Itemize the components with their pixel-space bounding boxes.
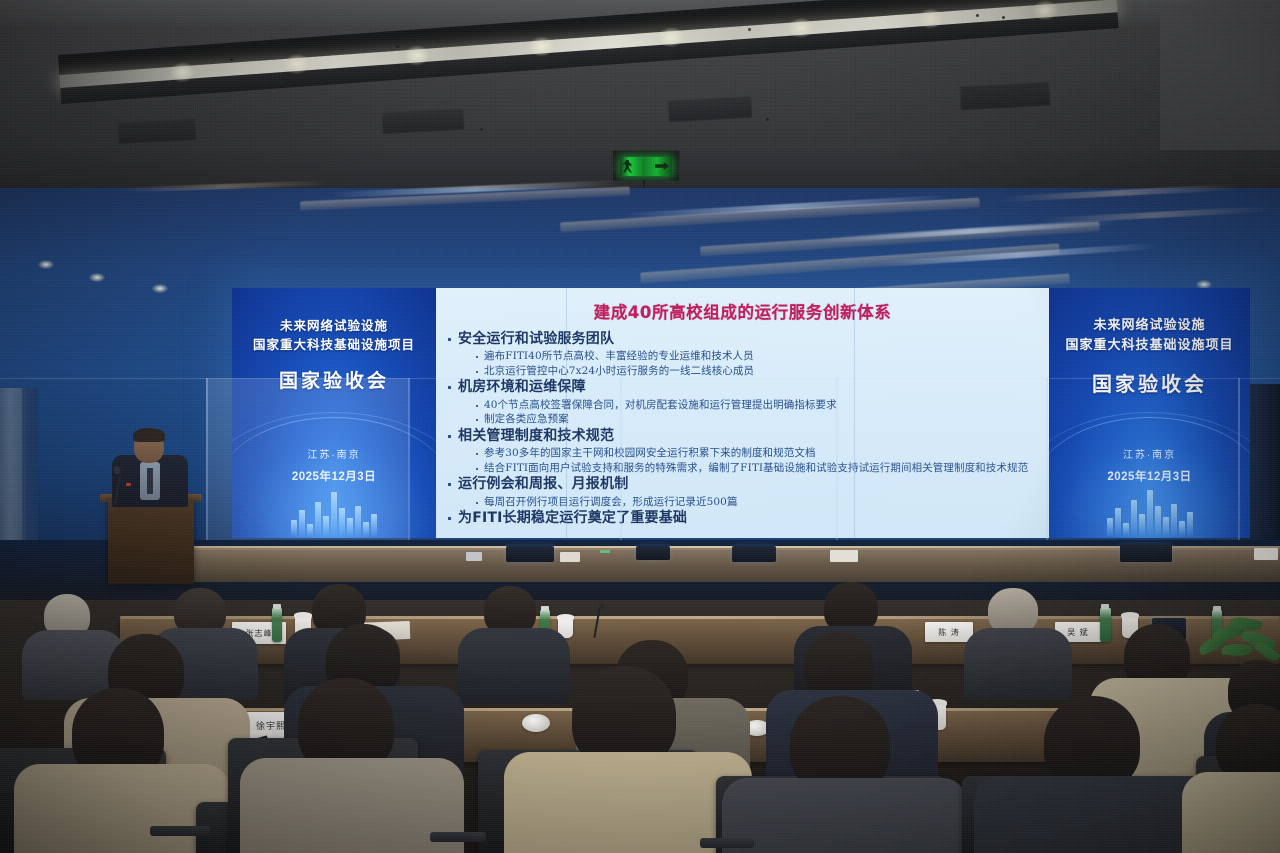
ceiling-downlight-reflection <box>89 273 105 282</box>
conference-room-photo: 未来网络试验设施 国家重大科技基础设施项目 国家验收会 江苏·南京 2025年1… <box>0 0 1280 853</box>
panel-date: 2025年12月3日 <box>1049 468 1250 484</box>
sub-bullet-dot-icon <box>476 502 478 504</box>
screen-content-slide: 建成40所高校组成的运行服务创新体系 安全运行和试验服务团队遍布FITI40所节… <box>436 288 1049 538</box>
water-bottle <box>272 608 282 642</box>
slide-sub-bullet: 每周召开例行项目运行调度会，形成运行记录近500篇 <box>476 495 1039 509</box>
sub-bullet-dot-icon <box>476 419 478 421</box>
slide-sub-bullet-text: 参考30多年的国家主干网和校园网安全运行积累下来的制度和规范文档 <box>484 446 816 460</box>
panel-heading: 国家验收会 <box>1049 368 1250 397</box>
speaker-hair <box>133 428 165 442</box>
front-desk-monitor <box>732 546 776 562</box>
front-desk-paper <box>830 550 858 562</box>
ceiling-vent <box>117 118 196 144</box>
slide-bullet: 安全运行和试验服务团队 <box>448 330 1039 348</box>
ceiling <box>0 0 1280 196</box>
bullet-dot-icon <box>448 483 451 486</box>
slide-bullet-text: 运行例会和周报、月报机制 <box>458 475 628 493</box>
slide-sub-bullet: 结合FITI面向用户试验支持和服务的特殊需求，编制了FITI基础设施和试验支持试… <box>476 461 1039 475</box>
podium <box>108 498 194 584</box>
sub-bullet-dot-icon <box>476 405 478 407</box>
front-desk <box>180 548 1280 582</box>
chair-armrest <box>150 826 210 836</box>
ceiling-vent <box>381 108 464 134</box>
presentation-screen: 未来网络试验设施 国家重大科技基础设施项目 国家验收会 江苏·南京 2025年1… <box>232 288 1250 538</box>
panel-line2: 国家重大科技基础设施项目 <box>1049 336 1250 356</box>
speaker-tie <box>147 468 153 494</box>
exit-sign-wire <box>613 150 614 151</box>
front-desk-paper <box>560 552 580 562</box>
chair-armrest <box>430 832 486 842</box>
screen-right-title-panel: 未来网络试验设施 国家重大科技基础设施项目 国家验收会 江苏·南京 2025年1… <box>1049 288 1250 538</box>
slide-sub-bullet-text: 遍布FITI40所节点高校、丰富经验的专业运维和技术人员 <box>484 349 754 363</box>
sub-bullet-dot-icon <box>476 453 478 455</box>
ceiling-downlight-reflection <box>152 284 168 293</box>
sub-bullet-dot-icon <box>476 356 478 358</box>
bullet-dot-icon <box>448 435 451 438</box>
slide-bullet-list: 安全运行和试验服务团队遍布FITI40所节点高校、丰富经验的专业运维和技术人员北… <box>446 330 1039 528</box>
bullet-dot-icon <box>448 338 451 341</box>
panel-line1: 未来网络试验设施 <box>1049 316 1250 336</box>
audience-area: 张志峰 陈 涛 吴 斌 <box>0 600 1280 853</box>
nameplate-text: 吴 斌 <box>1067 627 1089 638</box>
screen-left-title-panel: 未来网络试验设施 国家重大科技基础设施项目 国家验收会 江苏·南京 2025年1… <box>232 288 436 538</box>
nameplate: 陈 涛 <box>925 622 973 642</box>
arrow-right-icon <box>655 161 669 171</box>
water-bottle <box>1100 608 1111 642</box>
potted-plant <box>1192 612 1280 668</box>
slide-sub-bullet-text: 每周召开例行项目运行调度会，形成运行记录近500篇 <box>484 495 738 509</box>
slide-bullet-text: 安全运行和试验服务团队 <box>458 330 614 348</box>
front-desk-device <box>466 552 482 561</box>
slide-bullet-text: 为FITI长期稳定运行奠定了重要基础 <box>458 509 687 527</box>
panel-location: 江苏·南京 <box>232 446 436 461</box>
slide-sub-bullet-text: 北京运行管控中心7x24小时运行服务的一线二线核心成员 <box>484 364 754 378</box>
saucer <box>522 714 550 732</box>
nameplate-text: 陈 涛 <box>938 627 960 638</box>
front-desk-monitor <box>636 546 670 560</box>
city-skyline-graphic <box>291 492 377 536</box>
panel-line2: 国家重大科技基础设施项目 <box>232 335 436 354</box>
panel-line1: 未来网络试验设施 <box>232 316 436 335</box>
podium-microphone-head <box>114 466 120 474</box>
city-skyline-graphic <box>1107 490 1193 536</box>
panel-date: 2025年12月3日 <box>232 468 436 484</box>
slide-bullet: 为FITI长期稳定运行奠定了重要基础 <box>448 509 1039 527</box>
front-desk-green-light <box>600 550 610 553</box>
slide-sub-bullet: 参考30多年的国家主干网和校园网安全运行积累下来的制度和规范文档 <box>476 446 1039 460</box>
ceiling-downlight-reflection <box>38 260 54 269</box>
sub-bullet-dot-icon <box>476 468 478 470</box>
podium-microphone-indicator <box>126 483 131 486</box>
slide-title: 建成40所高校组成的运行服务创新体系 <box>446 299 1039 323</box>
exit-running-man-icon <box>623 160 633 173</box>
ceiling-vent <box>667 96 752 122</box>
slide-sub-bullet: 遍布FITI40所节点高校、丰富经验的专业运维和技术人员 <box>476 349 1039 363</box>
slide-sub-bullet-text: 制定各类应急预案 <box>484 412 569 426</box>
front-desk-nameplate <box>1254 548 1278 560</box>
sub-bullet-dot-icon <box>476 371 478 373</box>
bullet-dot-icon <box>448 517 451 520</box>
panel-heading: 国家验收会 <box>232 366 436 393</box>
emergency-exit-sign <box>612 150 680 182</box>
slide-sub-bullet: 制定各类应急预案 <box>476 412 1039 426</box>
chair-armrest <box>700 838 754 848</box>
slide-sub-bullet: 40个节点高校签署保障合同，对机房配套设施和运行管理提出明确指标要求 <box>476 398 1039 412</box>
slide-bullet: 机房环境和运维保障 <box>448 378 1039 396</box>
front-desk-monitor <box>506 546 554 562</box>
slide-sub-bullet: 北京运行管控中心7x24小时运行服务的一线二线核心成员 <box>476 364 1039 378</box>
slide-sub-bullet-text: 40个节点高校签署保障合同，对机房配套设施和运行管理提出明确指标要求 <box>484 398 837 412</box>
slide-bullet: 运行例会和周报、月报机制 <box>448 475 1039 493</box>
front-desk-monitor <box>1120 544 1172 562</box>
slide-bullet-text: 相关管理制度和技术规范 <box>458 427 614 445</box>
bullet-dot-icon <box>448 386 451 389</box>
panel-location: 江苏·南京 <box>1049 446 1250 461</box>
ceiling-vent <box>959 82 1050 111</box>
slide-bullet: 相关管理制度和技术规范 <box>448 427 1039 445</box>
